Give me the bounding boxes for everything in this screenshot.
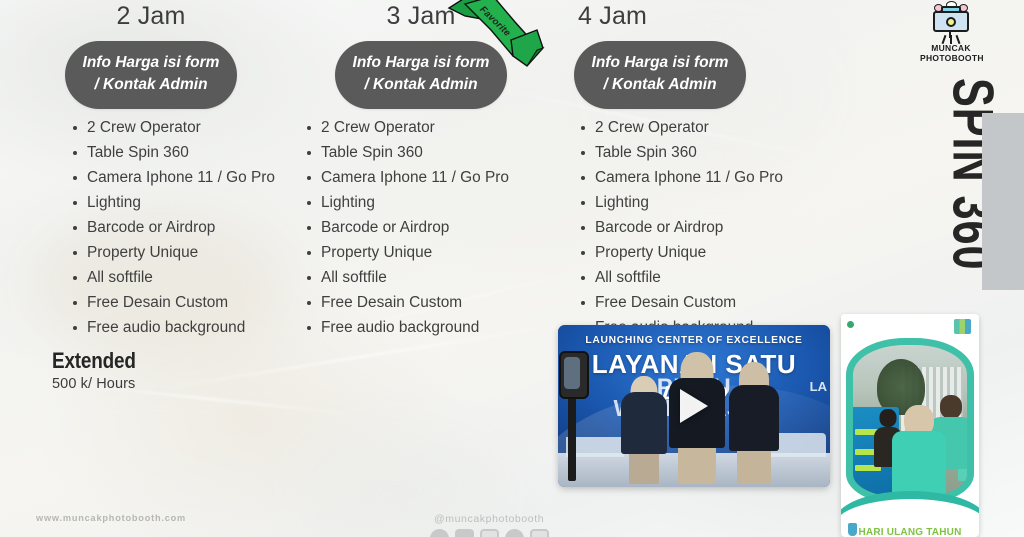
list-item: 2 Crew Operator: [70, 120, 276, 135]
social-icon-row: [430, 529, 549, 537]
list-item: Free Desain Custom: [70, 295, 276, 310]
list-item: Property Unique: [304, 245, 546, 260]
photo-card-header: [841, 314, 979, 340]
footer-social-handle[interactable]: @muncakphotobooth: [434, 513, 544, 525]
list-item: Free Desain Custom: [578, 295, 806, 310]
video-banner-side-text: LA: [810, 379, 827, 394]
cta-line-2: / Kontak Admin: [584, 74, 736, 96]
person-legs: [678, 446, 716, 484]
ring-light-stand: [568, 385, 576, 481]
youtube-icon[interactable]: [455, 529, 474, 537]
person-silhouette: [891, 405, 947, 497]
person-body: [621, 392, 667, 454]
instagram-icon[interactable]: [480, 529, 499, 537]
list-item: 2 Crew Operator: [304, 120, 546, 135]
list-item: Table Spin 360: [578, 145, 806, 160]
package-column-2jam: 2 Jam Info Harga isi form / Kontak Admin…: [26, 2, 276, 345]
list-item: Camera Iphone 11 / Go Pro: [578, 170, 806, 185]
cta-button-3jam[interactable]: Info Harga isi form / Kontak Admin: [335, 41, 507, 109]
brand-name-line1: MUNCAK: [920, 43, 982, 53]
camera-icon: [929, 4, 973, 40]
photo-card[interactable]: HARI ULANG TAHUN: [841, 314, 979, 537]
list-item: All softfile: [578, 270, 806, 285]
feature-list-3jam: 2 Crew Operator Table Spin 360 Camera Ip…: [296, 120, 546, 335]
list-item: Free audio background: [304, 320, 546, 335]
brand-name-line2: PHOTOBOOTH: [920, 53, 982, 63]
photo-card-caption: HARI ULANG TAHUN: [841, 527, 979, 537]
person-silhouette: [620, 376, 668, 484]
list-item: Lighting: [304, 195, 546, 210]
footer-website[interactable]: www.muncakphotobooth.com: [36, 513, 186, 523]
list-item: Property Unique: [578, 245, 806, 260]
cta-line-1: Info Harga isi form: [584, 52, 736, 74]
brand-logo: MUNCAK PHOTOBOOTH: [920, 4, 982, 63]
person-silhouette: [728, 362, 780, 484]
list-item: Property Unique: [70, 245, 276, 260]
camera-lens: [946, 17, 956, 27]
list-item: Table Spin 360: [70, 145, 276, 160]
cta-line-1: Info Harga isi form: [345, 52, 497, 74]
gray-placeholder-block: [982, 113, 1024, 290]
person-body: [892, 431, 946, 497]
tripod-leg: [950, 35, 952, 44]
list-item: 2 Crew Operator: [578, 120, 806, 135]
list-item: Free Desain Custom: [304, 295, 546, 310]
list-item: Table Spin 360: [304, 145, 546, 160]
photo-frame: [846, 338, 974, 504]
facebook-icon[interactable]: [430, 529, 449, 537]
secondary-logo-icon: [954, 319, 971, 334]
feature-list-4jam: 2 Crew Operator Table Spin 360 Camera Ip…: [556, 120, 806, 335]
list-item: Lighting: [70, 195, 276, 210]
package-column-4jam: 4 Jam Info Harga isi form / Kontak Admin…: [556, 2, 806, 345]
tiktok-icon[interactable]: [505, 529, 524, 537]
package-title-4jam: 4 Jam: [556, 2, 806, 31]
cta-button-4jam[interactable]: Info Harga isi form / Kontak Admin: [574, 41, 746, 109]
package-column-3jam: 3 Jam Info Harga isi form / Kontak Admin…: [296, 2, 546, 345]
person-legs: [737, 449, 771, 484]
extended-pricing-block: Extended 500 k/ Hours: [52, 348, 149, 392]
list-item: Barcode or Airdrop: [304, 220, 546, 235]
cta-button-2jam[interactable]: Info Harga isi form / Kontak Admin: [65, 41, 237, 109]
video-banner-headline: LAUNCHING CENTER OF EXCELLENCE: [558, 335, 830, 346]
feature-list-2jam: 2 Crew Operator Table Spin 360 Camera Ip…: [26, 120, 276, 335]
play-icon[interactable]: [680, 389, 708, 423]
cta-line-1: Info Harga isi form: [75, 52, 227, 74]
list-item: Camera Iphone 11 / Go Pro: [304, 170, 546, 185]
list-item: Lighting: [578, 195, 806, 210]
brand-name: MUNCAK PHOTOBOOTH: [920, 43, 982, 63]
package-title-2jam: 2 Jam: [26, 2, 276, 31]
list-item: All softfile: [70, 270, 276, 285]
list-item: Barcode or Airdrop: [70, 220, 276, 235]
list-item: Free audio background: [70, 320, 276, 335]
person-legs: [629, 452, 659, 484]
whatsapp-icon[interactable]: [530, 529, 549, 537]
cta-line-2: / Kontak Admin: [345, 74, 497, 96]
list-item: Barcode or Airdrop: [578, 220, 806, 235]
extended-price: 500 k/ Hours: [52, 376, 149, 392]
person-body: [729, 385, 779, 451]
extended-title: Extended: [52, 348, 136, 374]
list-item: All softfile: [304, 270, 546, 285]
cta-line-2: / Kontak Admin: [75, 74, 227, 96]
package-title-3jam: 3 Jam: [296, 2, 546, 31]
video-thumbnail-card[interactable]: LAUNCHING CENTER OF EXCELLENCE LAYANAN S…: [558, 325, 830, 487]
list-item: Camera Iphone 11 / Go Pro: [70, 170, 276, 185]
org-logo-icon: [847, 321, 856, 328]
